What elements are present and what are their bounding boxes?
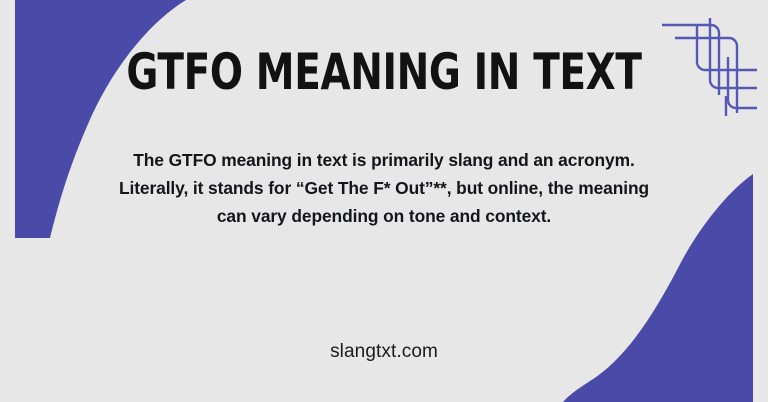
poster-canvas: GTFO MEANING IN TEXT The GTFO meaning in…: [0, 0, 768, 402]
poster-content: GTFO MEANING IN TEXT The GTFO meaning in…: [0, 0, 768, 402]
page-title: GTFO MEANING IN TEXT: [84, 46, 683, 98]
site-attribution: slangtxt.com: [0, 341, 768, 363]
poster-body-paragraph: The GTFO meaning in text is primarily sl…: [118, 146, 650, 230]
